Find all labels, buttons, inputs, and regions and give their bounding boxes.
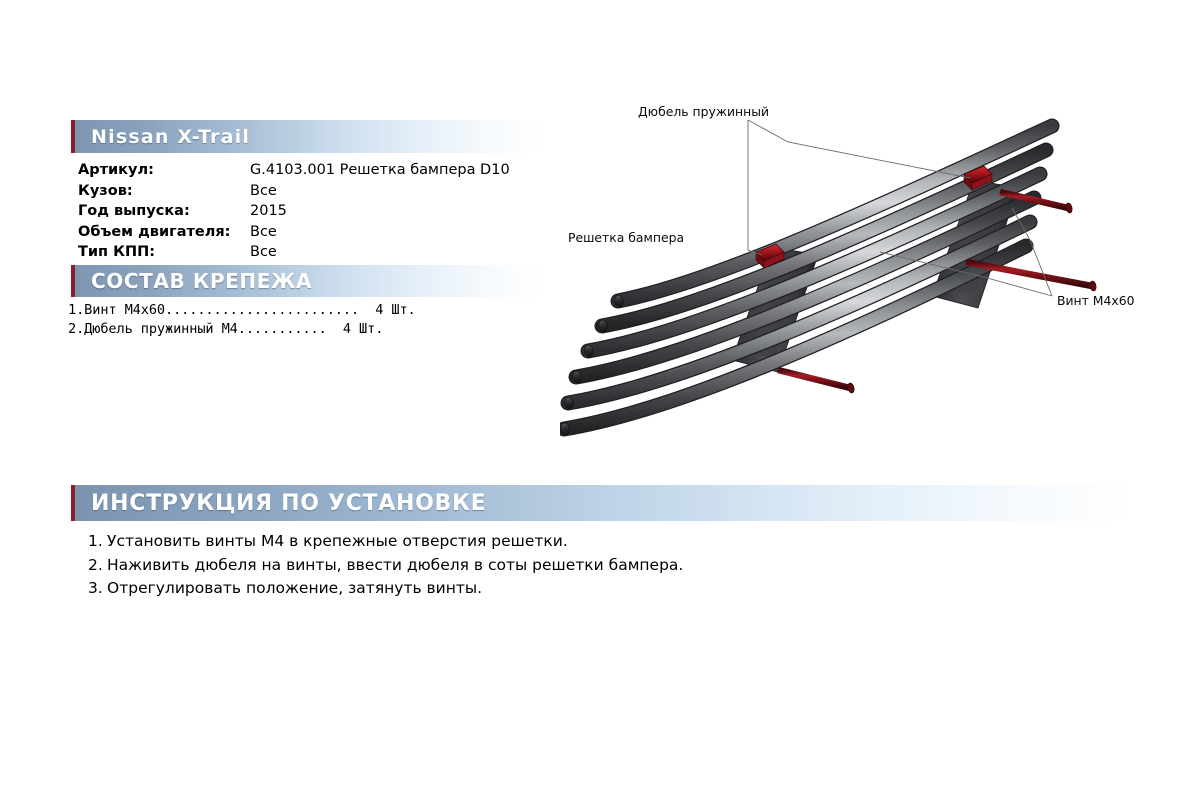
spec-value: Все — [250, 242, 277, 263]
spec-row: Кузов: Все — [78, 181, 510, 202]
bar-gradient: ИНСТРУКЦИЯ ПО УСТАНОВКЕ — [75, 485, 1133, 521]
bar-gradient: СОСТАВ КРЕПЕЖА — [75, 265, 545, 297]
instruction-step: 2.Наживить дюбеля на винты, ввести дюбел… — [88, 554, 683, 578]
vehicle-title: Nissan X-Trail — [75, 126, 250, 148]
spec-row: Артикул: G.4103.001 Решетка бампера D10 — [78, 160, 510, 181]
step-number: 3. — [88, 577, 107, 601]
spec-value: G.4103.001 Решетка бампера D10 — [250, 160, 510, 181]
spec-value: Все — [250, 222, 277, 243]
step-text: Отрегулировать положение, затянуть винты… — [107, 579, 482, 597]
instruction-step-list: 1.Установить винты М4 в крепежные отверс… — [88, 530, 683, 601]
instruction-step: 3.Отрегулировать положение, затянуть вин… — [88, 577, 683, 601]
bar-gradient: Nissan X-Trail — [75, 120, 545, 153]
spec-label: Кузов: — [78, 181, 250, 202]
spec-row: Объем двигателя: Все — [78, 222, 510, 243]
grille-assembly-illustration: Дюбель пружинный Решетка бампера Винт M4… — [560, 100, 1180, 440]
kit-header-bar: СОСТАВ КРЕПЕЖА — [71, 265, 545, 297]
spec-value: Все — [250, 181, 277, 202]
spec-value: 2015 — [250, 201, 287, 222]
callout-label-bumper-grille: Решетка бампера — [568, 230, 684, 245]
spec-label: Год выпуска: — [78, 201, 250, 222]
spec-label: Тип КПП: — [78, 242, 250, 263]
step-number: 2. — [88, 554, 107, 578]
spec-row: Год выпуска: 2015 — [78, 201, 510, 222]
instruction-step: 1.Установить винты М4 в крепежные отверс… — [88, 530, 683, 554]
spec-label: Объем двигателя: — [78, 222, 250, 243]
fastener-kit-list: 1.Винт М4х60........................ 4 Ш… — [68, 301, 416, 339]
spec-row: Тип КПП: Все — [78, 242, 510, 263]
instructions-header-bar: ИНСТРУКЦИЯ ПО УСТАНОВКЕ — [71, 485, 1133, 521]
vehicle-spec-table: Артикул: G.4103.001 Решетка бампера D10 … — [78, 160, 510, 263]
callout-label-screw: Винт M4x60 — [1057, 293, 1135, 308]
step-text: Наживить дюбеля на винты, ввести дюбеля … — [107, 556, 683, 574]
step-number: 1. — [88, 530, 107, 554]
list-item: 2.Дюбель пружинный М4........... 4 Шт. — [68, 320, 416, 339]
callout-label-spring-dowel: Дюбель пружинный — [638, 104, 769, 119]
spec-label: Артикул: — [78, 160, 250, 181]
step-text: Установить винты М4 в крепежные отверсти… — [107, 532, 568, 550]
kit-title: СОСТАВ КРЕПЕЖА — [75, 269, 312, 293]
vehicle-header-bar: Nissan X-Trail — [71, 120, 545, 153]
screw-mid-left — [778, 370, 855, 394]
instructions-title: ИНСТРУКЦИЯ ПО УСТАНОВКЕ — [75, 491, 486, 516]
list-item: 1.Винт М4х60........................ 4 Ш… — [68, 301, 416, 320]
